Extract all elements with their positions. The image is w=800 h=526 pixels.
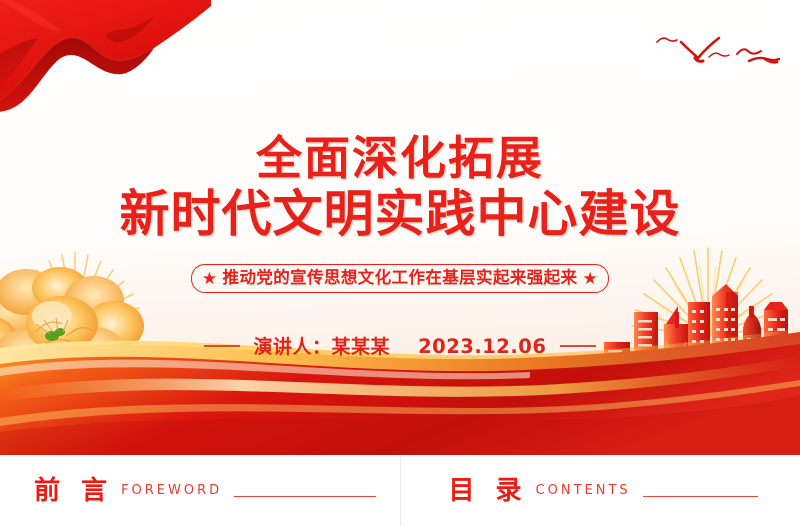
contents-panel[interactable]: 目 录 CONTENTS <box>401 455 800 526</box>
red-flag-decoration <box>0 0 211 121</box>
foreword-label-cn: 前 言 <box>34 477 113 505</box>
foreword-label-en: FOREWORD <box>121 483 222 499</box>
star-right-icon: ★ <box>582 269 598 289</box>
foreword-rule <box>234 496 375 497</box>
flying-birds-decoration <box>645 28 790 78</box>
subtitle-block: ★推动党的宣传思想文化工作在基层实起来强起来★ <box>0 264 800 293</box>
bottom-section-bar: 前 言 FOREWORD 目 录 CONTENTS <box>0 455 800 526</box>
presenter-block: 演讲人：某某某2023.12.06 <box>0 332 800 359</box>
contents-label-en: CONTENTS <box>536 483 631 499</box>
contents-label-cn: 目 录 <box>449 477 528 505</box>
dash-right-decoration <box>560 345 596 347</box>
contents-rule <box>643 496 758 497</box>
title-line-1: 全面深化拓展 <box>0 132 800 184</box>
star-left-icon: ★ <box>202 269 218 289</box>
speaker-name: 演讲人：某某某 <box>254 336 391 358</box>
title-block: 全面深化拓展 新时代文明实践中心建设 <box>0 132 800 242</box>
subtitle-text: 推动党的宣传思想文化工作在基层实起来强起来 <box>223 268 578 287</box>
dash-left-decoration <box>204 345 240 347</box>
foreword-panel[interactable]: 前 言 FOREWORD <box>0 455 401 526</box>
presentation-cover-slide: 全面深化拓展 新时代文明实践中心建设 ★推动党的宣传思想文化工作在基层实起来强起… <box>0 0 800 526</box>
subtitle-badge: ★推动党的宣传思想文化工作在基层实起来强起来★ <box>191 264 609 293</box>
title-line-2: 新时代文明实践中心建设 <box>0 186 800 242</box>
presentation-date: 2023.12.06 <box>418 335 546 358</box>
hero-banner: 全面深化拓展 新时代文明实践中心建设 ★推动党的宣传思想文化工作在基层实起来强起… <box>0 0 800 455</box>
